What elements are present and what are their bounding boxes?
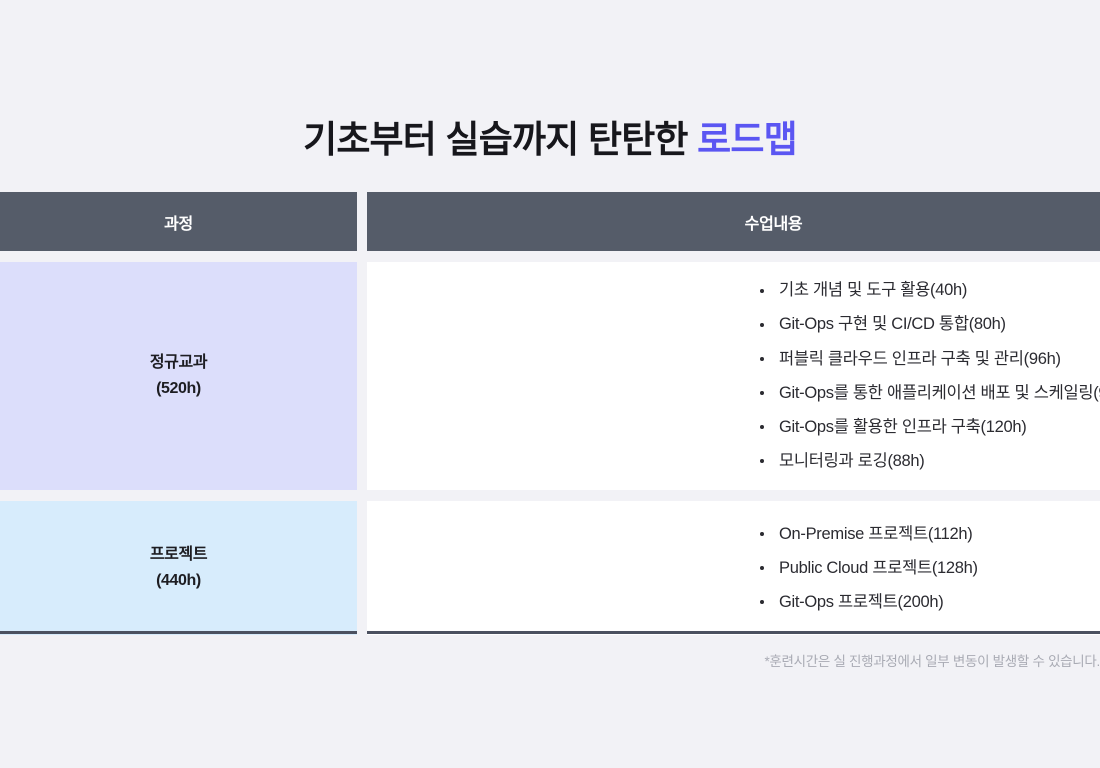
course-cell-text: 정규교과 (520h)	[150, 350, 207, 402]
list-item: Public Cloud 프로젝트(128h)	[367, 551, 1100, 585]
footnote: *훈련시간은 실 진행과정에서 일부 변동이 발생할 수 있습니다.	[0, 650, 1100, 670]
course-hours: (520h)	[150, 376, 207, 402]
list-item: 모니터링과 로깅(88h)	[367, 444, 1100, 478]
list-item: On-Premise 프로젝트(112h)	[367, 517, 1100, 551]
course-hours: (440h)	[150, 568, 207, 594]
course-name: 프로젝트	[150, 542, 207, 568]
table-row: 정규교과 (520h) 기초 개념 및 도구 활용(40h) Git-Ops 구…	[0, 262, 1100, 490]
course-cell-project: 프로젝트 (440h)	[0, 501, 357, 635]
content-cell-project: On-Premise 프로젝트(112h) Public Cloud 프로젝트(…	[367, 501, 1100, 635]
list-item: Git-Ops 프로젝트(200h)	[367, 585, 1100, 619]
list-item: Git-Ops를 통한 애플리케이션 배포 및 스케일링(96h)	[367, 376, 1100, 410]
list-item: 기초 개념 및 도구 활용(40h)	[367, 273, 1100, 307]
page-title: 기초부터 실습까지 탄탄한 로드맵	[303, 117, 797, 163]
course-name: 정규교과	[150, 350, 207, 376]
table-row: 프로젝트 (440h) On-Premise 프로젝트(112h) Public…	[0, 501, 1100, 635]
content-cell-regular: 기초 개념 및 도구 활용(40h) Git-Ops 구현 및 CI/CD 통합…	[367, 262, 1100, 490]
column-header-content: 수업내용	[367, 192, 1100, 251]
course-cell-regular: 정규교과 (520h)	[0, 262, 357, 490]
rule-segment-right	[367, 631, 1100, 634]
course-cell-text: 프로젝트 (440h)	[150, 542, 207, 594]
page-title-wrap: 기초부터 실습까지 탄탄한 로드맵	[0, 0, 1100, 188]
page-title-accent: 로드맵	[697, 119, 797, 160]
content-list: On-Premise 프로젝트(112h) Public Cloud 프로젝트(…	[367, 517, 1100, 619]
page-title-lead: 기초부터 실습까지 탄탄한	[303, 119, 697, 160]
list-item: 퍼블릭 클라우드 인프라 구축 및 관리(96h)	[367, 342, 1100, 376]
column-header-course: 과정	[0, 192, 357, 251]
roadmap-table: 과정 수업내용 정규교과 (520h) 기초 개념 및 도구 활용(40h) G…	[0, 192, 1100, 635]
table-bottom-rule	[0, 631, 1100, 634]
content-list: 기초 개념 및 도구 활용(40h) Git-Ops 구현 및 CI/CD 통합…	[367, 273, 1100, 478]
rule-segment-left	[0, 631, 357, 634]
list-item: Git-Ops 구현 및 CI/CD 통합(80h)	[367, 308, 1100, 342]
table-header-row: 과정 수업내용	[0, 192, 1100, 251]
list-item: Git-Ops를 활용한 인프라 구축(120h)	[367, 410, 1100, 444]
